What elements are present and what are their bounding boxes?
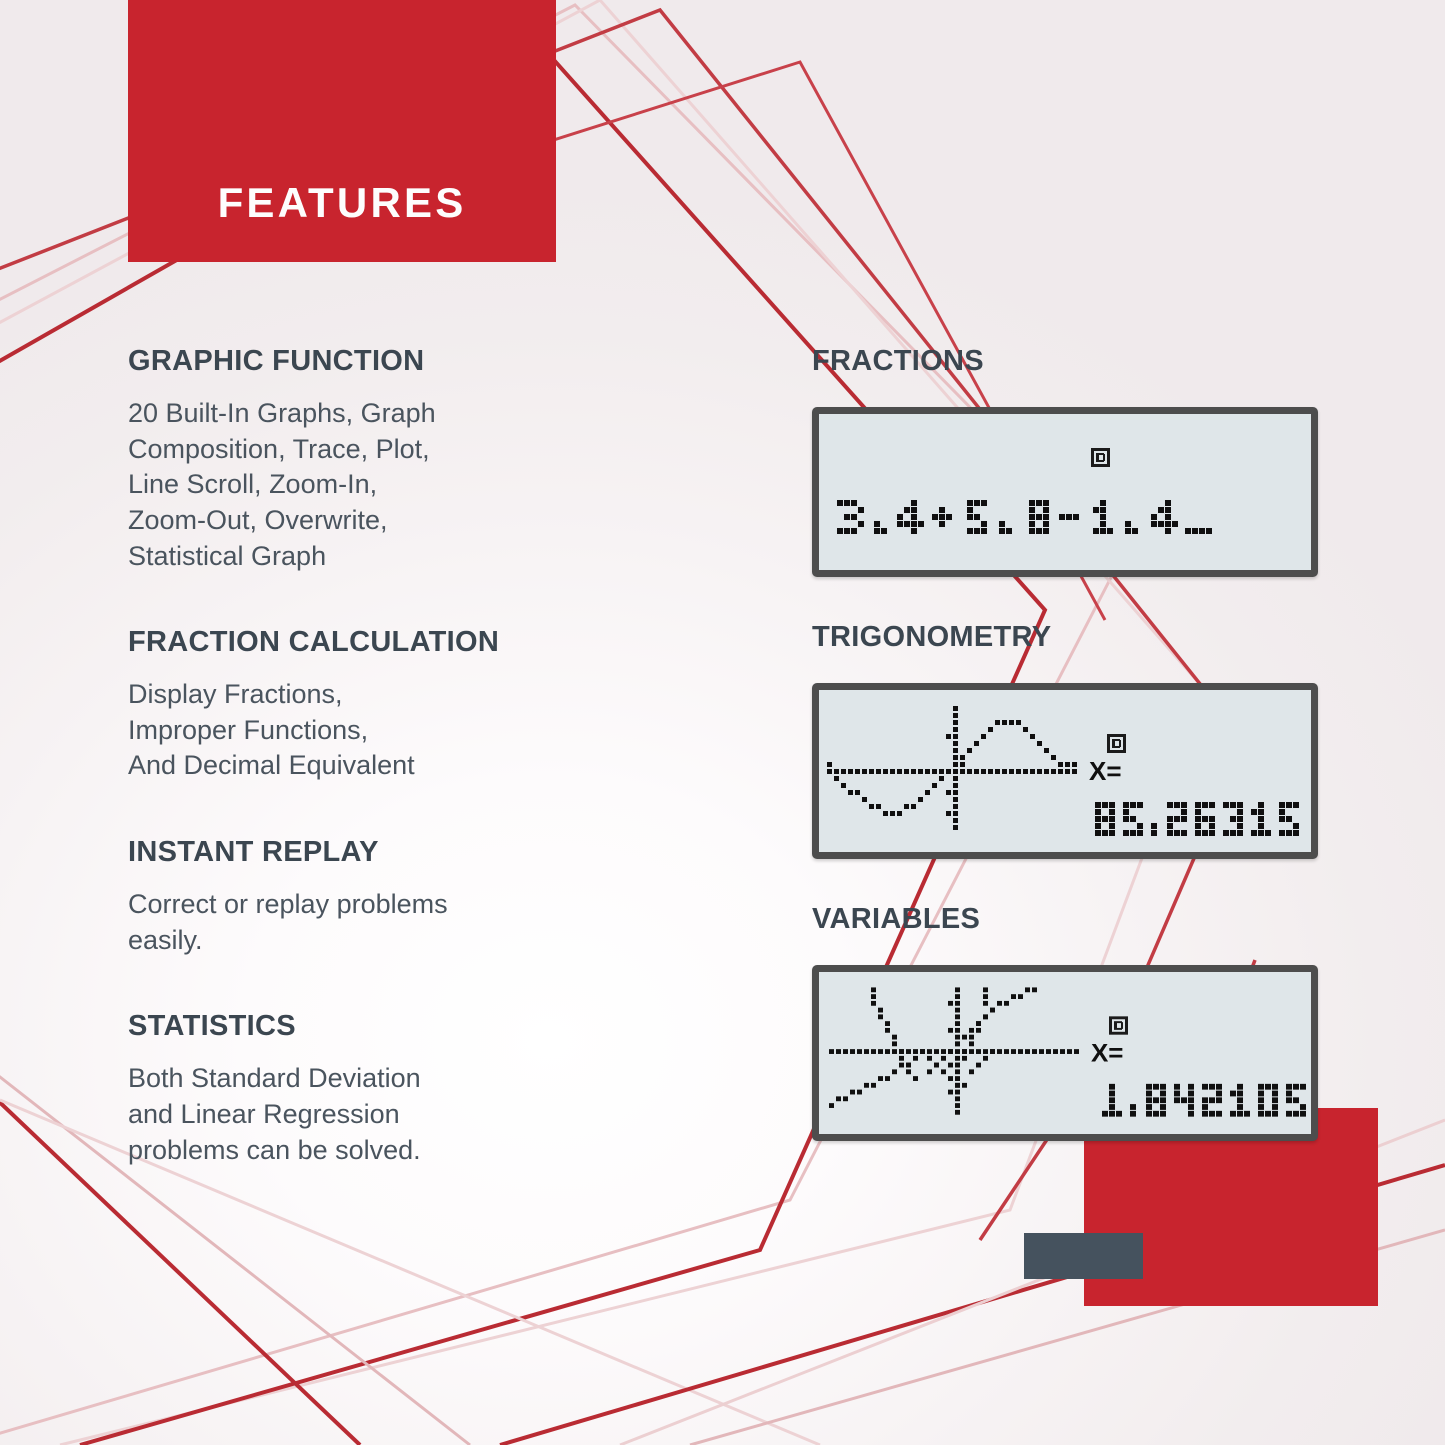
- sine-wave-plot: [834, 720, 1070, 816]
- feature-fraction-calculation: FRACTION CALCULATION Display Fractions, …: [128, 626, 698, 784]
- feature-heading: INSTANT REPLAY: [128, 836, 698, 869]
- result-value-dots: [1095, 802, 1299, 836]
- feature-heading: GRAPHIC FUNCTION: [128, 345, 698, 378]
- feature-variables: VARIABLES: [812, 903, 1332, 1141]
- lcd-display-variables: X=: [812, 965, 1318, 1141]
- line-plot-steep: [955, 987, 995, 1067]
- mode-indicator-d-icon: [1107, 734, 1126, 753]
- mode-indicator-d-icon: [1091, 448, 1110, 467]
- feature-statistics: STATISTICS Both Standard Deviation and L…: [128, 1010, 698, 1168]
- feature-graphic-function: GRAPHIC FUNCTION 20 Built-In Graphs, Gra…: [128, 345, 698, 574]
- line-plot-shallow: [920, 1049, 995, 1088]
- right-feature-column: FRACTIONS: [812, 345, 1332, 1185]
- mode-indicator-d-icon: [1109, 1016, 1128, 1034]
- feature-body: 20 Built-In Graphs, Graph Composition, T…: [128, 396, 698, 574]
- feature-trigonometry: TRIGONOMETRY: [812, 621, 1332, 859]
- feature-fractions: FRACTIONS: [812, 345, 1332, 577]
- left-feature-column: GRAPHIC FUNCTION 20 Built-In Graphs, Gra…: [128, 345, 698, 1168]
- lcd-trigonometry-canvas: X=: [819, 690, 1311, 852]
- lcd-expression-dots: [837, 500, 1212, 534]
- feature-heading: VARIABLES: [812, 903, 1332, 936]
- graph-axes-dots: [827, 706, 1077, 830]
- feature-instant-replay: INSTANT REPLAY Correct or replay problem…: [128, 836, 698, 958]
- lcd-display-fractions: [812, 407, 1318, 577]
- feature-body: Correct or replay problems easily.: [128, 887, 698, 958]
- decorative-slate-block: [1024, 1233, 1143, 1279]
- features-header-box: FEATURES: [128, 0, 556, 262]
- feature-heading: FRACTIONS: [812, 345, 1332, 378]
- feature-body: Display Fractions, Improper Functions, A…: [128, 677, 698, 784]
- line-plot-lower-left: [829, 1056, 918, 1108]
- lcd-display-trigonometry: X=: [812, 683, 1318, 859]
- feature-heading: TRIGONOMETRY: [812, 621, 1332, 654]
- page-title: FEATURES: [218, 182, 467, 224]
- feature-heading: STATISTICS: [128, 1010, 698, 1043]
- x-label: X=: [1091, 1040, 1123, 1067]
- lcd-fractions-canvas: [819, 414, 1311, 570]
- feature-body: Both Standard Deviation and Linear Regre…: [128, 1061, 698, 1168]
- feature-heading: FRACTION CALCULATION: [128, 626, 698, 659]
- graph-axes-dots: [829, 987, 1079, 1114]
- line-plot-diagonal-up: [927, 987, 1037, 1074]
- lcd-variables-canvas: X=: [819, 972, 1311, 1134]
- x-label: X=: [1089, 756, 1122, 786]
- result-value-dots: [1102, 1084, 1306, 1117]
